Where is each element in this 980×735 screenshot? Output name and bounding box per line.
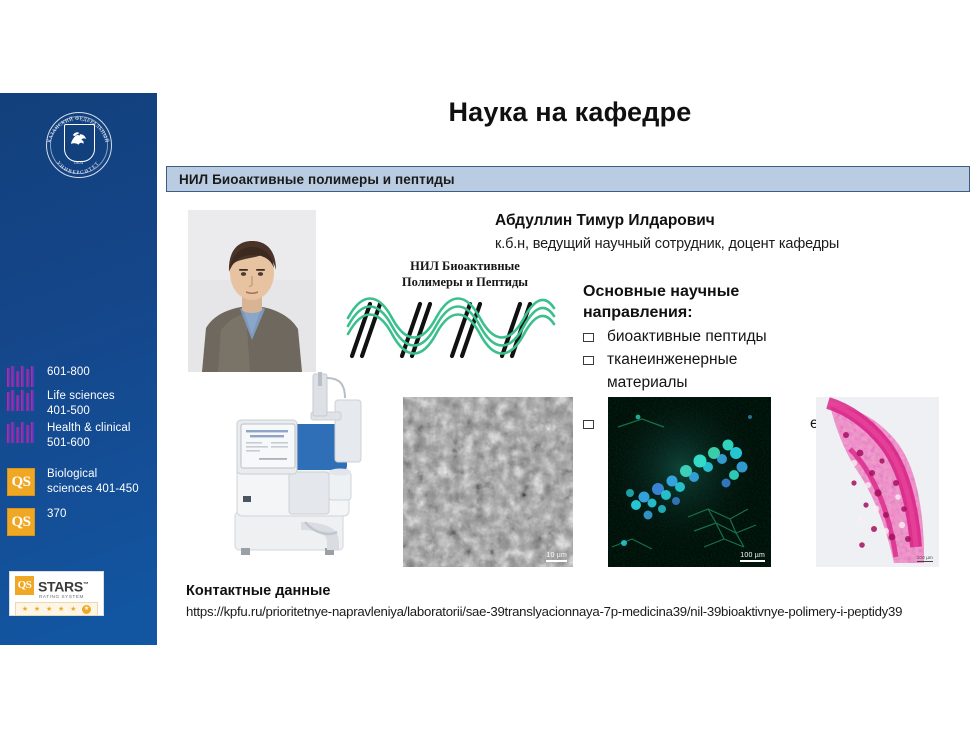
scale-bar-line [917,561,933,563]
star-icon: ★ [46,606,52,613]
person-role: к.б.н, ведущий научный сотрудник, доцент… [495,236,839,252]
ranking-label: Biological sciences 401-450 [47,467,139,497]
qs-trademark: ™ [83,582,89,588]
scale-bar: 100 µm [917,555,933,563]
scale-bar-line [546,560,567,563]
the-logo-icon [7,422,37,443]
ranking-row-the-life-sciences: Life sciences 401-500 [0,389,157,419]
portrait-photo [188,210,316,372]
directions-item-label: биоактивные пептиды [607,325,767,348]
scale-bar: 100 µm [740,552,765,563]
lab-logo-line2: Полимеры и Пептиды [385,274,545,290]
fluorescence-micrograph: 100 µm [608,397,771,567]
kfu-emblem: КАЗАНСКИЙ ФЕДЕРАЛЬНЫЙ УНИВЕРСИТЕТ 1804 [42,110,114,186]
directions-item-label: тканеинженерные материалы [607,348,737,394]
qs-logo-icon: QS [7,468,35,496]
qs-logo-icon: QS [7,508,35,536]
qs-tile-icon: QS [15,576,34,595]
ranking-spacer [0,499,157,507]
ranking-spacer [0,453,157,467]
directions-item: тканеинженерные материалы [583,348,873,394]
ranking-label: 370 [47,507,67,522]
ranking-label: Health & clinical 501-600 [47,421,131,451]
lab-logo: НИЛ Биоактивные Полимеры и Пептиды [340,258,565,363]
scale-bar-label: 10 µm [546,552,567,559]
sem-micrograph: 10 µm [403,397,573,567]
scale-bar-line [740,560,765,563]
emblem-griffin-icon [67,128,90,152]
ranking-label: 601-800 [47,365,90,380]
ranking-row-the-overall: 601-800 [0,365,157,387]
person-name: Абдуллин Тимур Илдарович [495,212,715,230]
square-bullet-icon [583,356,594,365]
ranking-list: 601-800 Life sciences 401-500 [0,365,157,538]
slide-canvas: КАЗАНСКИЙ ФЕДЕРАЛЬНЫЙ УНИВЕРСИТЕТ 1804 [0,0,980,735]
page-title: Наука на кафедре [165,97,975,128]
star-icon: ★ [70,606,76,613]
ranking-row-qs-biological-sciences: QS Biological sciences 401-450 [0,467,157,497]
star-icon: ★ [22,606,28,613]
ranking-row-qs-overall: QS 370 [0,507,157,536]
contact-title: Контактные данные [186,583,330,599]
ranking-label: Life sciences 401-500 [47,389,115,419]
the-logo-icon [7,366,37,387]
lab-logo-wave-graphic [340,294,565,364]
directions-heading: Основные научные направления: [583,281,833,323]
star-icon: ★ [58,606,64,613]
directions-item: биоактивные пептиды [583,325,873,348]
qs-stars-subtitle: RATING SYSTEM [39,594,98,599]
histology-section: 100 µm [816,397,939,567]
square-bullet-icon [583,420,594,429]
qs-stars-rating-bar: ★ ★ ★ ★ ★ ★ [15,602,98,616]
scale-bar-label: 100 µm [917,555,933,560]
star-icon-filled: ★ [82,605,91,614]
ranking-row-the-health-clinical: Health & clinical 501-600 [0,421,157,451]
scale-bar: 10 µm [546,552,567,563]
section-bar-label: НИЛ Биоактивные полимеры и пептиды [179,172,455,187]
star-icon: ★ [34,606,40,613]
lab-logo-text: НИЛ Биоактивные Полимеры и Пептиды [385,258,545,290]
square-bullet-icon [583,333,594,342]
qs-stars-word: STARS™ [38,578,89,594]
qs-stars-top: QS STARS™ [15,576,98,595]
qs-stars-badge: QS STARS™ RATING SYSTEM ★ ★ ★ ★ ★ ★ [9,571,104,616]
peptide-synthesizer-photo [219,372,382,569]
emblem-year: 1804 [64,160,93,165]
sidebar: КАЗАНСКИЙ ФЕДЕРАЛЬНЫЙ УНИВЕРСИТЕТ 1804 [0,93,157,645]
the-logo-icon [7,390,37,411]
scale-bar-label: 100 µm [740,552,765,559]
section-bar: НИЛ Биоактивные полимеры и пептиды [166,166,970,192]
lab-logo-line1: НИЛ Биоактивные [385,258,545,274]
contact-url[interactable]: https://kpfu.ru/prioritetnye-napravleniy… [186,603,976,621]
